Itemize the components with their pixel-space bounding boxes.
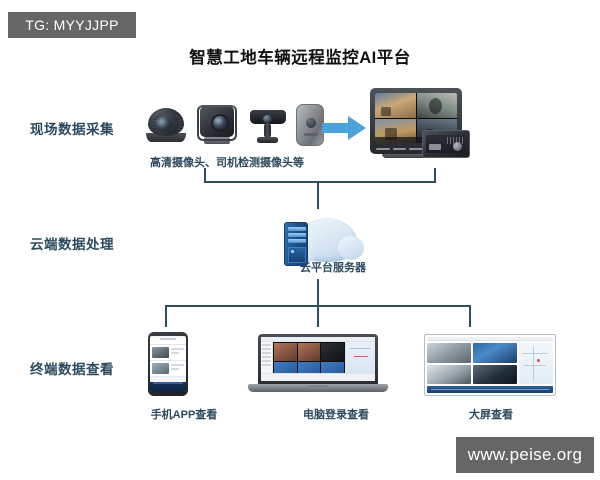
vehicle-monitor-icon [370,88,470,164]
big-screen-map-panel[interactable] [519,343,553,384]
box-camera-bracket [197,105,237,141]
laptop-video-cell[interactable] [298,343,321,361]
dvr-lock [453,142,462,151]
monitor-button[interactable] [409,148,423,150]
dome-camera-body [148,108,184,136]
dome-camera-lens [155,117,172,131]
big-screen-video-grid [427,343,517,384]
laptop-video-cell[interactable] [274,343,297,361]
laptop-status-strip [261,373,375,381]
driver-monitor-lens [306,118,316,128]
watermark-website: www.peise.org [456,437,594,473]
laptop-base [248,384,388,392]
dome-camera-icon [146,106,186,144]
big-screen-video-cell[interactable] [473,343,517,363]
server-bay [288,233,306,237]
monitor-quadrant-1 [375,93,416,118]
row-label-terminal-viewing: 终端数据查看 [30,358,114,378]
watermark-telegram: TG: MYYJJPP [8,12,136,38]
big-screen-frame [424,334,556,396]
caption-cameras: 高清摄像头、司机检测摄像头等 [142,154,312,170]
big-screen-video-cell[interactable] [473,365,517,385]
mobile-dvr-icon [422,130,470,158]
server-bay [288,239,306,243]
phone-thumbnail [152,347,169,358]
big-screen-bottom-bar [427,386,553,393]
connector-to-phone [165,305,167,327]
laptop-screen [261,337,375,381]
stalk-camera-neck [264,123,271,138]
phone-shell [148,332,188,396]
row-label-field-collection: 现场数据采集 [30,118,114,138]
large-display-icon [424,334,556,396]
phone-item-text [171,347,184,358]
connector-cloud-down [317,279,319,307]
row-label-cloud-processing: 云端数据处理 [30,233,114,253]
caption-mobile-app: 手机APP查看 [120,406,248,422]
big-screen-video-cell[interactable] [427,365,471,385]
phone-app-header [150,338,186,345]
phone-item-text [171,363,184,374]
page-title: 智慧工地车辆远程监控AI平台 [0,44,600,68]
phone-list-item[interactable] [150,345,186,361]
monitor-button[interactable] [376,148,390,150]
laptop-video-cell[interactable] [321,343,344,361]
connector-to-laptop [317,305,319,327]
server-led [291,250,294,253]
phone-thumbnail [152,363,169,374]
monitor-button[interactable] [393,148,407,150]
stalk-camera-lens [263,115,272,123]
big-screen-toolbar[interactable] [427,337,553,341]
stalk-camera-foot [257,137,278,143]
caption-big-screen: 大屏查看 [432,406,550,422]
server-bay [288,227,306,231]
connector-cameras-down [204,168,206,182]
laptop-lid [258,334,378,384]
stalk-camera-icon [248,108,288,146]
box-camera-icon [196,104,238,146]
caption-desktop-login: 电脑登录查看 [272,406,400,422]
connector-monitor-down [434,168,436,182]
big-screen-video-cell[interactable] [427,343,471,363]
phone-video-panel [150,382,186,392]
connector-bus-to-cloud [317,181,319,209]
big-screen-content [427,343,553,384]
driver-monitor-slot [304,133,318,136]
dvr-port [429,144,441,150]
stalk-camera-head [250,110,286,124]
phone-list-item[interactable] [150,361,186,377]
right-arrow-icon [320,113,368,143]
laptop-icon [248,334,388,396]
connector-to-bigscreen [469,305,471,327]
diagram-canvas: TG: MYYJJPP www.peise.org 智慧工地车辆远程监控AI平台… [0,0,600,480]
smartphone-icon [148,332,188,396]
phone-screen [150,336,186,392]
caption-cloud-server: 云平台服务器 [300,259,396,275]
monitor-quadrant-2 [417,93,458,118]
connector-top-bus [204,181,436,183]
